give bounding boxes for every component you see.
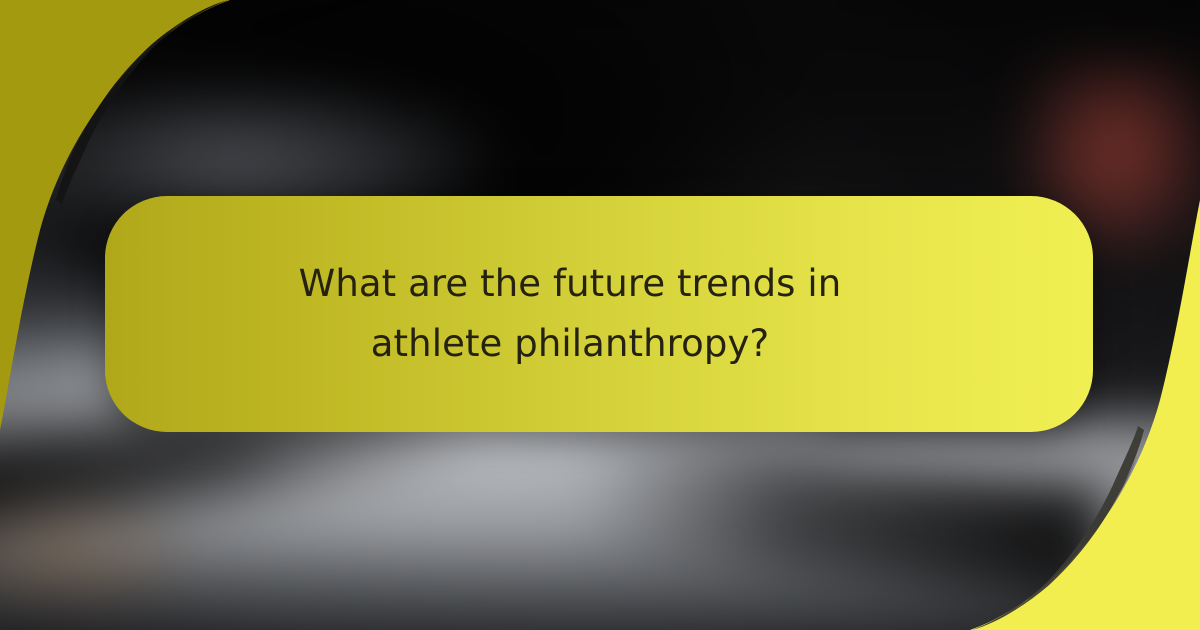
question-card: What are the future trends in athlete ph…: [105, 196, 1093, 432]
question-text: What are the future trends in athlete ph…: [250, 254, 890, 374]
share-card-canvas: What are the future trends in athlete ph…: [0, 0, 1200, 630]
